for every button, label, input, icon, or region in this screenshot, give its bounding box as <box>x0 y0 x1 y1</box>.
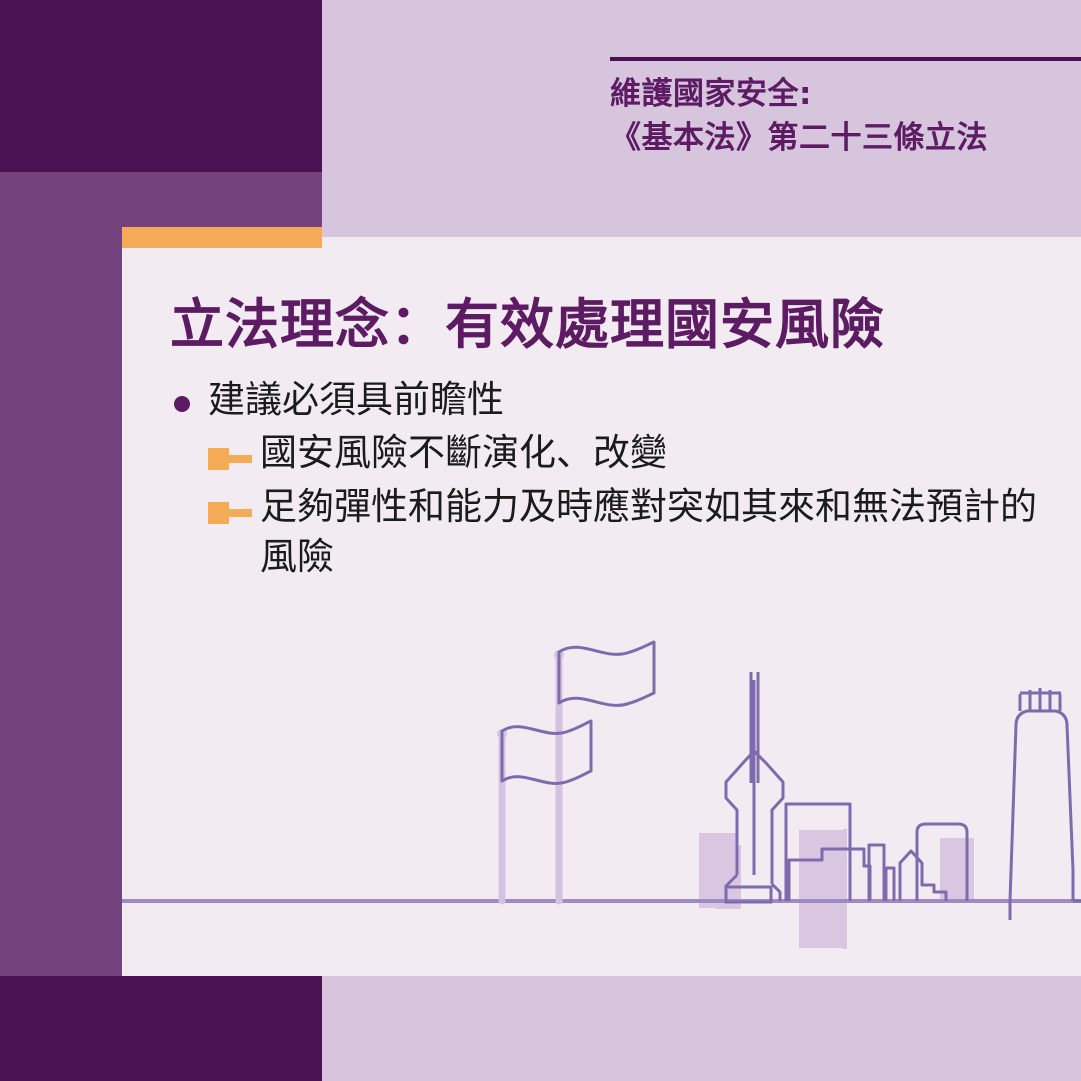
flag-tall <box>554 642 654 901</box>
list-item: 足夠彈性和能力及時應對突如其來和無法預計的風險 <box>168 482 1038 582</box>
slide-canvas: 維護國家安全: 《基本法》第二十三條立法 立法理念：有效處理國安風險 建議必須具… <box>0 0 1081 1081</box>
top-left-darkpurple-block <box>0 0 322 172</box>
hong-kong-skyline-illustration <box>122 620 1081 950</box>
orange-accent-bar <box>122 227 322 248</box>
list-item-label: 建議必須具前瞻性 <box>208 378 504 421</box>
list-item: 國安風險不斷演化、改變 <box>168 428 1038 478</box>
pitched-roof-building <box>900 851 946 901</box>
flag-short <box>497 721 591 901</box>
header-divider-rule <box>610 57 1081 61</box>
header-title-line-1: 維護國家安全: <box>610 72 1081 116</box>
list-item-label: 國安風險不斷演化、改變 <box>260 431 667 474</box>
header-title-line-2: 《基本法》第二十三條立法 <box>610 116 1081 160</box>
round-bullet-icon <box>174 396 190 412</box>
orange-arrow-bullet-icon <box>208 502 252 524</box>
list-item: 建議必須具前瞻性 <box>168 378 1038 422</box>
bullet-list: 建議必須具前瞻性 國安風險不斷演化、改變 足夠彈性和能力及時應對突如其來和無法預… <box>168 378 1038 585</box>
header-title: 維護國家安全: 《基本法》第二十三條立法 <box>610 72 1081 160</box>
orange-arrow-bullet-icon <box>208 448 252 470</box>
page-title: 立法理念：有效處理國安風險 <box>170 296 885 354</box>
icc-tower <box>1010 688 1073 920</box>
bottom-left-darkpurple-block <box>0 976 322 1081</box>
slim-towers <box>869 845 894 901</box>
list-item-label: 足夠彈性和能力及時應對突如其來和無法預計的風險 <box>260 485 1037 578</box>
